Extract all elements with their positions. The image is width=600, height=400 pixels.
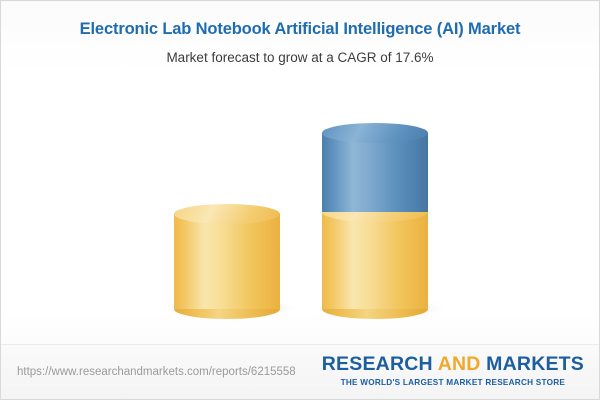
- brand-word-research: RESEARCH: [322, 353, 438, 375]
- cylinder-body-yellow-2029: [322, 212, 428, 309]
- chart-plot-area: USD 1.88 Billion 2025 USD 3.6 Billion: [1, 1, 599, 346]
- brand-word-and: AND: [438, 353, 481, 375]
- brand-tagline: THE WORLD'S LARGEST MARKET RESEARCH STOR…: [322, 379, 584, 387]
- cylinder-top-ellipse-2029: [322, 123, 428, 143]
- bar-cylinder-2029[interactable]: [322, 123, 428, 309]
- cylinder-body-blue-2029: [322, 133, 428, 212]
- source-url-link[interactable]: https://www.researchandmarkets.com/repor…: [17, 366, 296, 378]
- cylinder-top-ellipse-2025: [174, 204, 280, 224]
- brand-wordmark: RESEARCH AND MARKETS: [322, 355, 584, 375]
- cylinder-body-yellow-2025: [174, 214, 280, 309]
- brand-word-markets: MARKETS: [481, 353, 584, 375]
- brand-logo[interactable]: RESEARCH AND MARKETS THE WORLD'S LARGEST…: [322, 355, 584, 387]
- infographic-canvas: Electronic Lab Notebook Artificial Intel…: [0, 0, 600, 400]
- bar-cylinder-2025[interactable]: [174, 204, 280, 309]
- footer-bar: https://www.researchandmarkets.com/repor…: [1, 344, 599, 399]
